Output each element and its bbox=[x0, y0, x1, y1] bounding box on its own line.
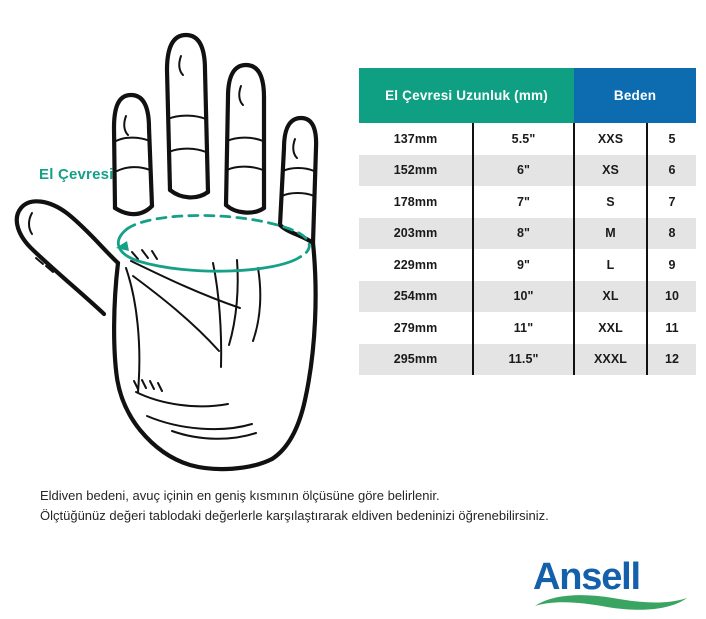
table-header-row: El Çevresi Uzunluk (mm) Beden bbox=[359, 68, 696, 123]
hand-circumference-label: El Çevresi bbox=[39, 166, 114, 183]
cell-number: 11 bbox=[647, 312, 696, 344]
palm-crease-side bbox=[229, 260, 238, 345]
cell-number: 7 bbox=[647, 186, 696, 218]
cell-size: XS bbox=[574, 155, 647, 187]
cell-mm: 295mm bbox=[359, 344, 473, 376]
cell-size: XXXL bbox=[574, 344, 647, 376]
cell-mm: 178mm bbox=[359, 186, 473, 218]
cell-mm: 229mm bbox=[359, 249, 473, 281]
thumb-outline bbox=[17, 201, 118, 314]
ansell-logo: Ansell bbox=[533, 556, 693, 608]
glove-size-table: El Çevresi Uzunluk (mm) Beden 137mm 5.5"… bbox=[359, 68, 696, 375]
cell-mm: 254mm bbox=[359, 281, 473, 313]
wrist-crease-2 bbox=[172, 431, 256, 439]
cell-mm: 137mm bbox=[359, 123, 473, 155]
crease-ring-1 bbox=[227, 167, 263, 170]
cell-size: S bbox=[574, 186, 647, 218]
wrist-outline bbox=[140, 430, 272, 469]
cell-size: XXS bbox=[574, 123, 647, 155]
table-header-size: Beden bbox=[574, 68, 696, 123]
cell-number: 12 bbox=[647, 344, 696, 376]
cell-inch: 10" bbox=[473, 281, 574, 313]
finger-index-outline bbox=[114, 95, 152, 208]
table-row: 178mm 7" S 7 bbox=[359, 186, 696, 218]
table-row: 279mm 11" XXL 11 bbox=[359, 312, 696, 344]
palm-crease-base bbox=[136, 392, 228, 406]
nail-middle bbox=[179, 56, 183, 75]
palm-right-outline bbox=[272, 243, 316, 459]
web-ring bbox=[226, 205, 264, 213]
palm-crease-life bbox=[126, 268, 139, 392]
cell-inch: 7" bbox=[473, 186, 574, 218]
cell-number: 5 bbox=[647, 123, 696, 155]
instructions-line-2: Ölçtüğünüz değeri tablodaki değerlerle k… bbox=[40, 506, 670, 526]
palm-crease-thenar bbox=[213, 263, 221, 367]
finger-little-outline bbox=[280, 118, 316, 243]
crease-index-1 bbox=[117, 167, 150, 171]
table-row: 229mm 9" L 9 bbox=[359, 249, 696, 281]
crease-ring-2 bbox=[227, 138, 263, 141]
cell-mm: 203mm bbox=[359, 218, 473, 250]
cell-size: M bbox=[574, 218, 647, 250]
crease-index-2 bbox=[116, 138, 150, 141]
cell-number: 6 bbox=[647, 155, 696, 187]
cell-mm: 279mm bbox=[359, 312, 473, 344]
cell-number: 9 bbox=[647, 249, 696, 281]
table-body: 137mm 5.5" XXS 5 152mm 6" XS 6 178mm 7" … bbox=[359, 123, 696, 375]
palm-left-outline bbox=[114, 263, 140, 430]
finger-ring-outline bbox=[226, 65, 264, 208]
crease-middle-2 bbox=[168, 116, 206, 119]
table-row: 203mm 8" M 8 bbox=[359, 218, 696, 250]
crease-little-1 bbox=[282, 193, 314, 196]
hatch-web bbox=[132, 250, 157, 259]
nail-ring bbox=[239, 86, 243, 105]
instructions-text: Eldiven bedeni, avuç içinin en geniş kıs… bbox=[40, 486, 670, 526]
ansell-logo-wave-icon bbox=[531, 592, 691, 612]
cell-number: 8 bbox=[647, 218, 696, 250]
table-row: 295mm 11.5" XXXL 12 bbox=[359, 344, 696, 376]
web-middle bbox=[170, 190, 208, 197]
cell-mm: 152mm bbox=[359, 155, 473, 187]
cell-number: 10 bbox=[647, 281, 696, 313]
cell-inch: 8" bbox=[473, 218, 574, 250]
cell-inch: 5.5" bbox=[473, 123, 574, 155]
cell-size: XL bbox=[574, 281, 647, 313]
nail-little bbox=[293, 139, 297, 158]
hand-illustration bbox=[0, 0, 350, 480]
cell-inch: 11.5" bbox=[473, 344, 574, 376]
table-header-circumference: El Çevresi Uzunluk (mm) bbox=[359, 68, 574, 123]
palm-crease-head bbox=[133, 276, 219, 351]
nail-index bbox=[124, 116, 128, 135]
palm-crease-side2 bbox=[253, 268, 260, 341]
instructions-line-1: Eldiven bedeni, avuç içinin en geniş kıs… bbox=[40, 486, 670, 506]
table-row: 137mm 5.5" XXS 5 bbox=[359, 123, 696, 155]
wrist-crease-1 bbox=[147, 416, 252, 429]
cell-inch: 11" bbox=[473, 312, 574, 344]
crease-little-2 bbox=[283, 168, 314, 171]
nail-thumb bbox=[29, 213, 32, 234]
crease-middle-1 bbox=[169, 149, 206, 152]
measure-ellipse-solid bbox=[118, 229, 300, 271]
table-row: 152mm 6" XS 6 bbox=[359, 155, 696, 187]
cell-inch: 9" bbox=[473, 249, 574, 281]
cell-size: XXL bbox=[574, 312, 647, 344]
finger-middle-outline bbox=[167, 35, 208, 192]
table-row: 254mm 10" XL 10 bbox=[359, 281, 696, 313]
web-index bbox=[115, 206, 152, 214]
cell-inch: 6" bbox=[473, 155, 574, 187]
cell-size: L bbox=[574, 249, 647, 281]
palm-crease-heart bbox=[131, 261, 240, 308]
